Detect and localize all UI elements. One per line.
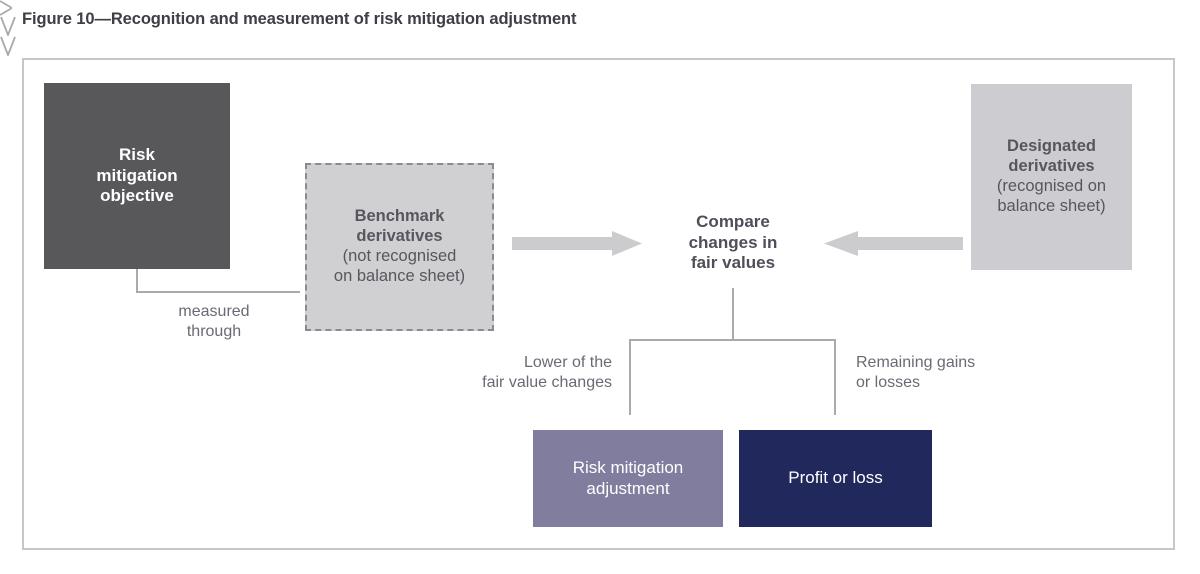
- label-measured-line-2: through: [144, 322, 284, 342]
- node-benchmark-line-1: Benchmark: [334, 207, 465, 227]
- figure-container: Figure 10—Recognition and measurement of…: [0, 0, 1200, 574]
- right-arrowhead-icon: [0, 0, 12, 16]
- node-designated-derivatives: Designated derivatives (recognised on ba…: [971, 84, 1132, 270]
- node-compare-changes-in-fair-values: Compare changes in fair values: [650, 196, 816, 290]
- edge-label-remaining-gains-or-losses: Remaining gains or losses: [856, 353, 1046, 393]
- connector-left-branch: [629, 339, 631, 415]
- node-risk-mitigation-adjustment: Risk mitigation adjustment: [533, 430, 723, 527]
- node-objective-line-1: Risk: [96, 145, 177, 165]
- node-compare-line-2: changes in: [689, 233, 778, 253]
- node-objective-line-3: objective: [96, 186, 177, 206]
- connector-objective-vertical: [136, 269, 138, 293]
- node-benchmark-derivatives: Benchmark derivatives (not recognised on…: [305, 163, 494, 331]
- down-arrowhead-icon: [0, 16, 16, 36]
- node-compare-line-3: fair values: [689, 253, 778, 273]
- label-remaining-line-1: Remaining gains: [856, 353, 1046, 373]
- node-benchmark-line-4: on balance sheet): [334, 267, 465, 287]
- node-designated-line-3: (recognised on: [997, 177, 1106, 197]
- node-objective-line-2: mitigation: [96, 166, 177, 186]
- connector-compare-stem: [732, 288, 734, 341]
- node-pl-line-1: Profit or loss: [788, 468, 882, 488]
- label-measured-line-1: measured: [144, 302, 284, 322]
- node-designated-line-2: derivatives: [997, 157, 1106, 177]
- connector-split-bar: [629, 339, 836, 341]
- edge-label-measured-through: measured through: [144, 302, 284, 342]
- right-block-arrow-icon: [512, 231, 642, 256]
- node-designated-line-4: balance sheet): [997, 197, 1106, 217]
- figure-title: Figure 10—Recognition and measurement of…: [22, 10, 576, 29]
- node-benchmark-line-3: (not recognised: [334, 247, 465, 267]
- label-lower-line-1: Lower of the: [432, 353, 612, 373]
- left-block-arrow-icon: [824, 231, 963, 256]
- label-lower-line-2: fair value changes: [432, 373, 612, 393]
- node-rma-line-1: Risk mitigation: [573, 458, 684, 478]
- node-risk-mitigation-objective: Risk mitigation objective: [44, 83, 230, 269]
- node-benchmark-line-2: derivatives: [334, 227, 465, 247]
- connector-objective-horizontal: [136, 291, 300, 293]
- node-compare-line-1: Compare: [689, 212, 778, 232]
- edge-label-lower-of-fair-value-changes: Lower of the fair value changes: [432, 353, 612, 393]
- connector-right-branch: [834, 339, 836, 415]
- node-rma-line-2: adjustment: [573, 479, 684, 499]
- node-designated-line-1: Designated: [997, 137, 1106, 157]
- node-profit-or-loss: Profit or loss: [739, 430, 932, 527]
- down-arrowhead-icon: [0, 36, 16, 56]
- label-remaining-line-2: or losses: [856, 373, 1046, 393]
